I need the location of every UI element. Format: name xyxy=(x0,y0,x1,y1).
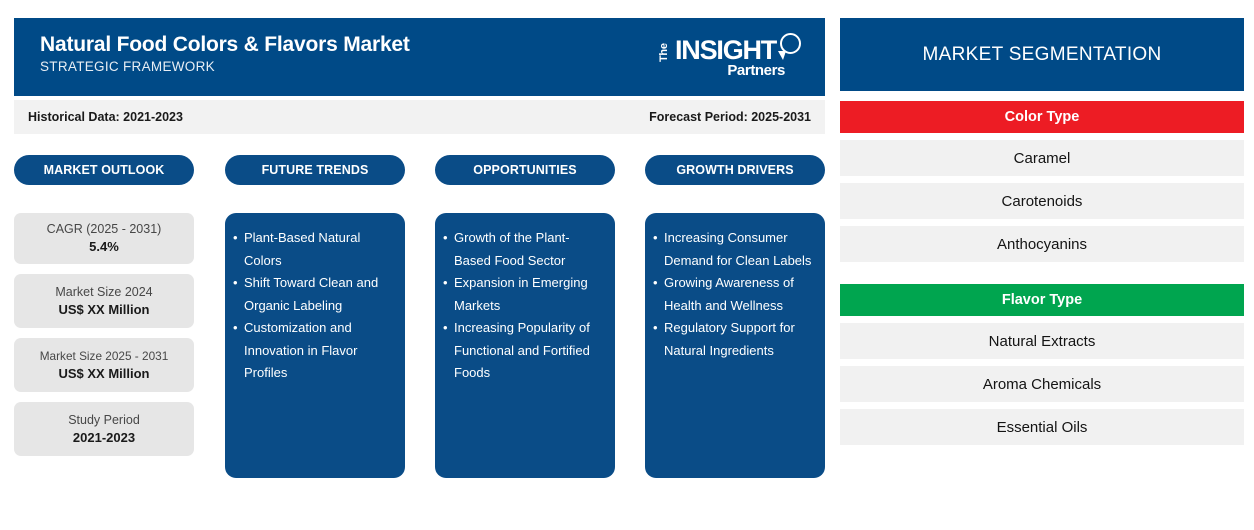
list-item: Expansion in Emerging Markets xyxy=(443,272,605,317)
stat-label: Market Size 2024 xyxy=(55,284,152,301)
segmentation-group-title[interactable]: Color Type xyxy=(840,101,1244,133)
stat-label: CAGR (2025 - 2031) xyxy=(47,221,162,238)
period-bar: Historical Data: 2021-2023 Forecast Peri… xyxy=(14,100,825,134)
list-item: Growing Awareness of Health and Wellness xyxy=(653,272,815,317)
segmentation-group-title[interactable]: Flavor Type xyxy=(840,284,1244,316)
strategic-framework-panel: Natural Food Colors & Flavors Market STR… xyxy=(14,18,825,478)
stat-value: US$ XX Million xyxy=(58,301,149,319)
bullet-list: Increasing Consumer Demand for Clean Lab… xyxy=(653,227,815,362)
stat-value: US$ XX Million xyxy=(58,365,149,383)
framework-columns: MARKET OUTLOOK CAGR (2025 - 2031) 5.4% M… xyxy=(14,155,825,478)
column-growth-drivers: GROWTH DRIVERS Increasing Consumer Deman… xyxy=(645,155,825,478)
column-market-outlook: MARKET OUTLOOK CAGR (2025 - 2031) 5.4% M… xyxy=(14,155,194,478)
list-item: Customization and Innovation in Flavor P… xyxy=(233,317,395,385)
column-future-trends: FUTURE TRENDS Plant-Based Natural Colors… xyxy=(225,155,405,478)
list-item[interactable]: Essential Oils xyxy=(840,409,1244,445)
stat-value: 5.4% xyxy=(89,238,119,256)
bullet-card-opportunities: Growth of the Plant-Based Food Sector Ex… xyxy=(435,213,615,478)
column-header-opportunities[interactable]: OPPORTUNITIES xyxy=(435,155,615,185)
list-item[interactable]: Aroma Chemicals xyxy=(840,366,1244,402)
segmentation-group-flavor-type: Flavor Type Natural Extracts Aroma Chemi… xyxy=(840,284,1244,445)
stat-card-study-period: Study Period 2021-2023 xyxy=(14,402,194,456)
forecast-period-label: Forecast Period: 2025-2031 xyxy=(649,110,811,124)
historical-data-label: Historical Data: 2021-2023 xyxy=(28,110,183,124)
bullet-list: Growth of the Plant-Based Food Sector Ex… xyxy=(443,227,605,385)
list-item[interactable]: Anthocyanins xyxy=(840,226,1244,262)
list-item: Increasing Consumer Demand for Clean Lab… xyxy=(653,227,815,272)
stat-card-market-size-2024: Market Size 2024 US$ XX Million xyxy=(14,274,194,328)
bullet-list: Plant-Based Natural Colors Shift Toward … xyxy=(233,227,395,385)
logo-partners-text: Partners xyxy=(727,62,785,79)
stat-label: Study Period xyxy=(68,412,140,429)
list-item: Shift Toward Clean and Organic Labeling xyxy=(233,272,395,317)
column-header-growth-drivers[interactable]: GROWTH DRIVERS xyxy=(645,155,825,185)
title-bar: Natural Food Colors & Flavors Market STR… xyxy=(14,18,825,96)
list-item: Regulatory Support for Natural Ingredien… xyxy=(653,317,815,362)
stat-card-market-size-forecast: Market Size 2025 - 2031 US$ XX Million xyxy=(14,338,194,392)
column-header-future-trends[interactable]: FUTURE TRENDS xyxy=(225,155,405,185)
bullet-card-growth-drivers: Increasing Consumer Demand for Clean Lab… xyxy=(645,213,825,478)
list-item[interactable]: Carotenoids xyxy=(840,183,1244,219)
market-segmentation-panel: MARKET SEGMENTATION Color Type Caramel C… xyxy=(840,18,1244,448)
segmentation-group-color-type: Color Type Caramel Carotenoids Anthocyan… xyxy=(840,101,1244,262)
list-item: Growth of the Plant-Based Food Sector xyxy=(443,227,605,272)
stat-value: 2021-2023 xyxy=(73,429,135,447)
stat-card-cagr: CAGR (2025 - 2031) 5.4% xyxy=(14,213,194,264)
stat-label: Market Size 2025 - 2031 xyxy=(40,348,169,365)
speech-bubble-tail-icon xyxy=(778,51,786,60)
logo-insight-text: INSIGHT xyxy=(675,36,776,64)
insight-partners-logo: The INSIGHT Partners xyxy=(655,33,803,85)
list-item[interactable]: Caramel xyxy=(840,140,1244,176)
bullet-card-future-trends: Plant-Based Natural Colors Shift Toward … xyxy=(225,213,405,478)
column-opportunities: OPPORTUNITIES Growth of the Plant-Based … xyxy=(435,155,615,478)
list-item: Plant-Based Natural Colors xyxy=(233,227,395,272)
list-item[interactable]: Natural Extracts xyxy=(840,323,1244,359)
column-header-market-outlook[interactable]: MARKET OUTLOOK xyxy=(14,155,194,185)
segmentation-title: MARKET SEGMENTATION xyxy=(840,18,1244,91)
list-item: Increasing Popularity of Functional and … xyxy=(443,317,605,385)
